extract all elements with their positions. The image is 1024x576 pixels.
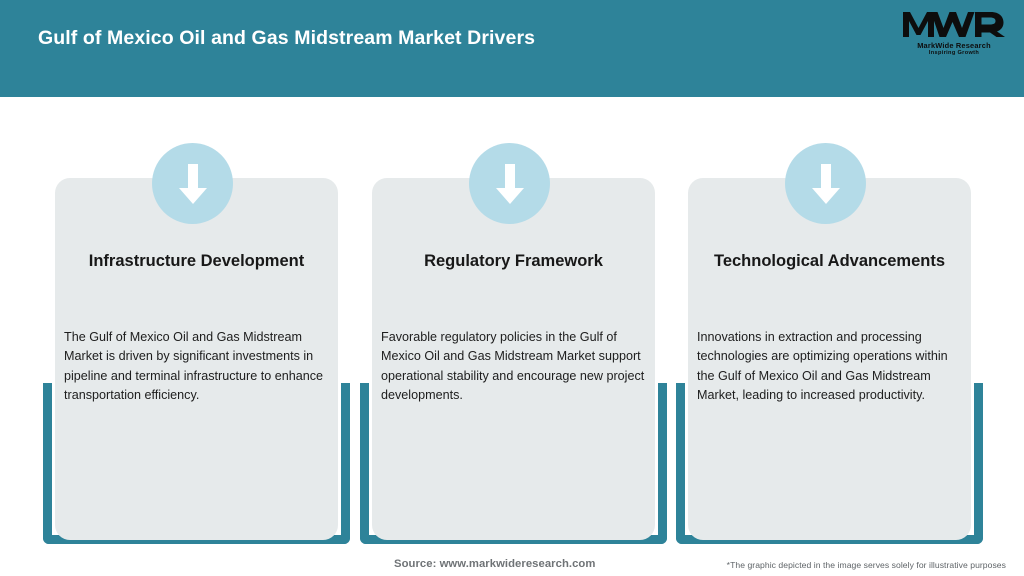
driver-card-3[interactable]: Technological Advancements Innovations i…	[676, 97, 983, 552]
down-arrow-icon	[152, 143, 233, 224]
down-arrow-icon	[469, 143, 550, 224]
footer-disclaimer: *The graphic depicted in the image serve…	[727, 560, 1006, 570]
driver-card-1[interactable]: Infrastructure Development The Gulf of M…	[43, 97, 350, 552]
down-arrow-glyph	[809, 162, 843, 206]
card-title: Technological Advancements	[688, 251, 971, 271]
logo-company-name: MarkWide Research	[902, 41, 1006, 50]
card-title: Infrastructure Development	[55, 251, 338, 271]
logo-tagline: Inspiring Growth	[902, 50, 1006, 57]
down-arrow-glyph	[176, 162, 210, 206]
card-title: Regulatory Framework	[372, 251, 655, 271]
down-arrow-glyph	[493, 162, 527, 206]
footer-source: Source: www.markwideresearch.com	[394, 558, 595, 570]
card-body-text: Favorable regulatory policies in the Gul…	[381, 328, 649, 405]
driver-card-2[interactable]: Regulatory Framework Favorable regulator…	[360, 97, 667, 552]
markwide-research-logo: MarkWide Research Inspiring Growth	[902, 8, 1006, 64]
card-body-text: Innovations in extraction and processing…	[697, 328, 965, 405]
header-bar: Gulf of Mexico Oil and Gas Midstream Mar…	[0, 0, 1024, 97]
down-arrow-icon	[785, 143, 866, 224]
page-title: Gulf of Mexico Oil and Gas Midstream Mar…	[38, 27, 535, 50]
mwr-logo-mark	[902, 8, 1006, 40]
card-body-text: The Gulf of Mexico Oil and Gas Midstream…	[64, 328, 332, 405]
drivers-card-row: Infrastructure Development The Gulf of M…	[0, 97, 1024, 552]
